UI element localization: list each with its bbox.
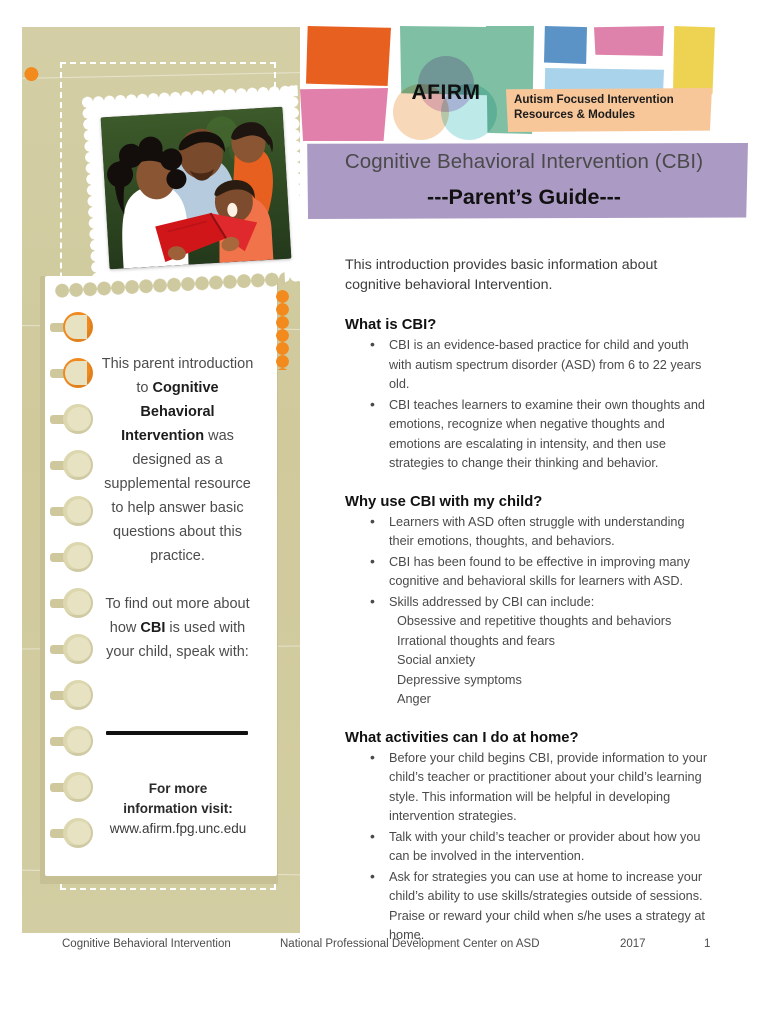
section-heading-what-is-cbi: What is CBI? [345,317,711,333]
header-color-block-yellow [673,26,715,94]
sidebar-paragraph2-bold: CBI [140,620,165,636]
spiral-binding-ring [50,358,80,388]
list-item: Social anxiety [397,651,711,671]
section-bullets-why-use-cbi: Learners with ASD often struggle with un… [345,513,711,613]
section-bullets-activities-at-home: Before your child begins CBI, provide in… [345,749,711,946]
afirm-tagline-line1: Autism Focused Intervention [514,92,710,107]
intro-paragraph: This introduction provides basic informa… [345,255,711,295]
spiral-binding-ring [50,542,80,572]
footer-organization: National Professional Development Center… [280,938,540,950]
list-item: Learners with ASD often struggle with un… [389,513,711,552]
sidebar-footer-line1: For more [92,779,264,799]
document-subtitle: ---Parent’s Guide--- [300,185,748,210]
list-item: Ask for strategies you can use at home t… [389,868,711,946]
spiral-binding-ring [50,680,80,710]
spiral-binding-ring [50,312,80,342]
spiral-binding-ring [50,450,80,480]
list-item: Depressive symptoms [397,671,711,691]
list-item: Irrational thoughts and fears [397,632,711,652]
signature-line [106,731,248,735]
main-content: This introduction provides basic informa… [345,255,711,966]
sidebar-footer: For more information visit: www.afirm.fp… [92,779,264,839]
list-item: CBI has been found to be effective in im… [389,553,711,592]
header-color-block-blue-dark [544,26,587,64]
orange-scallop-accent-strip [276,290,289,370]
header-color-block-orange [306,26,391,86]
spiral-binding-ring [50,634,80,664]
header-color-block-magenta [594,26,664,56]
afirm-tagline-line2: Resources & Modules [514,107,710,122]
page-footer: Cognitive Behavioral Intervention Nation… [0,938,768,958]
afirm-website-url[interactable]: www.afirm.fpg.unc.edu [92,819,264,839]
section-heading-activities-at-home: What activities can I do at home? [345,730,711,746]
footer-practice-name: Cognitive Behavioral Intervention [62,938,231,950]
spiral-binding-ring [50,772,80,802]
footer-page-number: 1 [704,938,710,950]
sidebar-intro-text: This parent introduction to Cognitive Be… [100,352,255,664]
afirm-tagline: Autism Focused Intervention Resources & … [514,92,710,122]
list-item: CBI teaches learners to examine their ow… [389,396,711,474]
spiral-binding-ring [50,496,80,526]
list-item: Talk with your child’s teacher or provid… [389,828,711,867]
afirm-wordmark: AFIRM [396,81,496,105]
list-item: Anger [397,690,711,710]
spiral-binding-ring [50,726,80,756]
sidebar-paragraph1-part2: was designed as a supplemental resource … [104,428,251,564]
spiral-binding-ring [50,404,80,434]
document-title: Cognitive Behavioral Intervention (CBI) [300,150,748,174]
spiral-binding-ring [50,588,80,618]
list-item: Obsessive and repetitive thoughts and be… [397,612,711,632]
sidebar-footer-line2: information visit: [92,799,264,819]
afirm-header-banner: AFIRM Autism Focused Intervention Resour… [300,26,760,141]
family-reading-photo [101,107,292,270]
section-heading-why-use-cbi: Why use CBI with my child? [345,494,711,510]
list-item: CBI is an evidence-based practice for ch… [389,336,711,395]
list-item: Before your child begins CBI, provide in… [389,749,711,827]
header-color-block-pink [300,88,388,141]
section-bullets-what-is-cbi: CBI is an evidence-based practice for ch… [345,336,711,474]
spiral-binding-ring [50,818,80,848]
section-sublist-skills: Obsessive and repetitive thoughts and be… [345,612,711,710]
list-item: Skills addressed by CBI can include: [389,593,711,613]
footer-year: 2017 [620,938,646,950]
